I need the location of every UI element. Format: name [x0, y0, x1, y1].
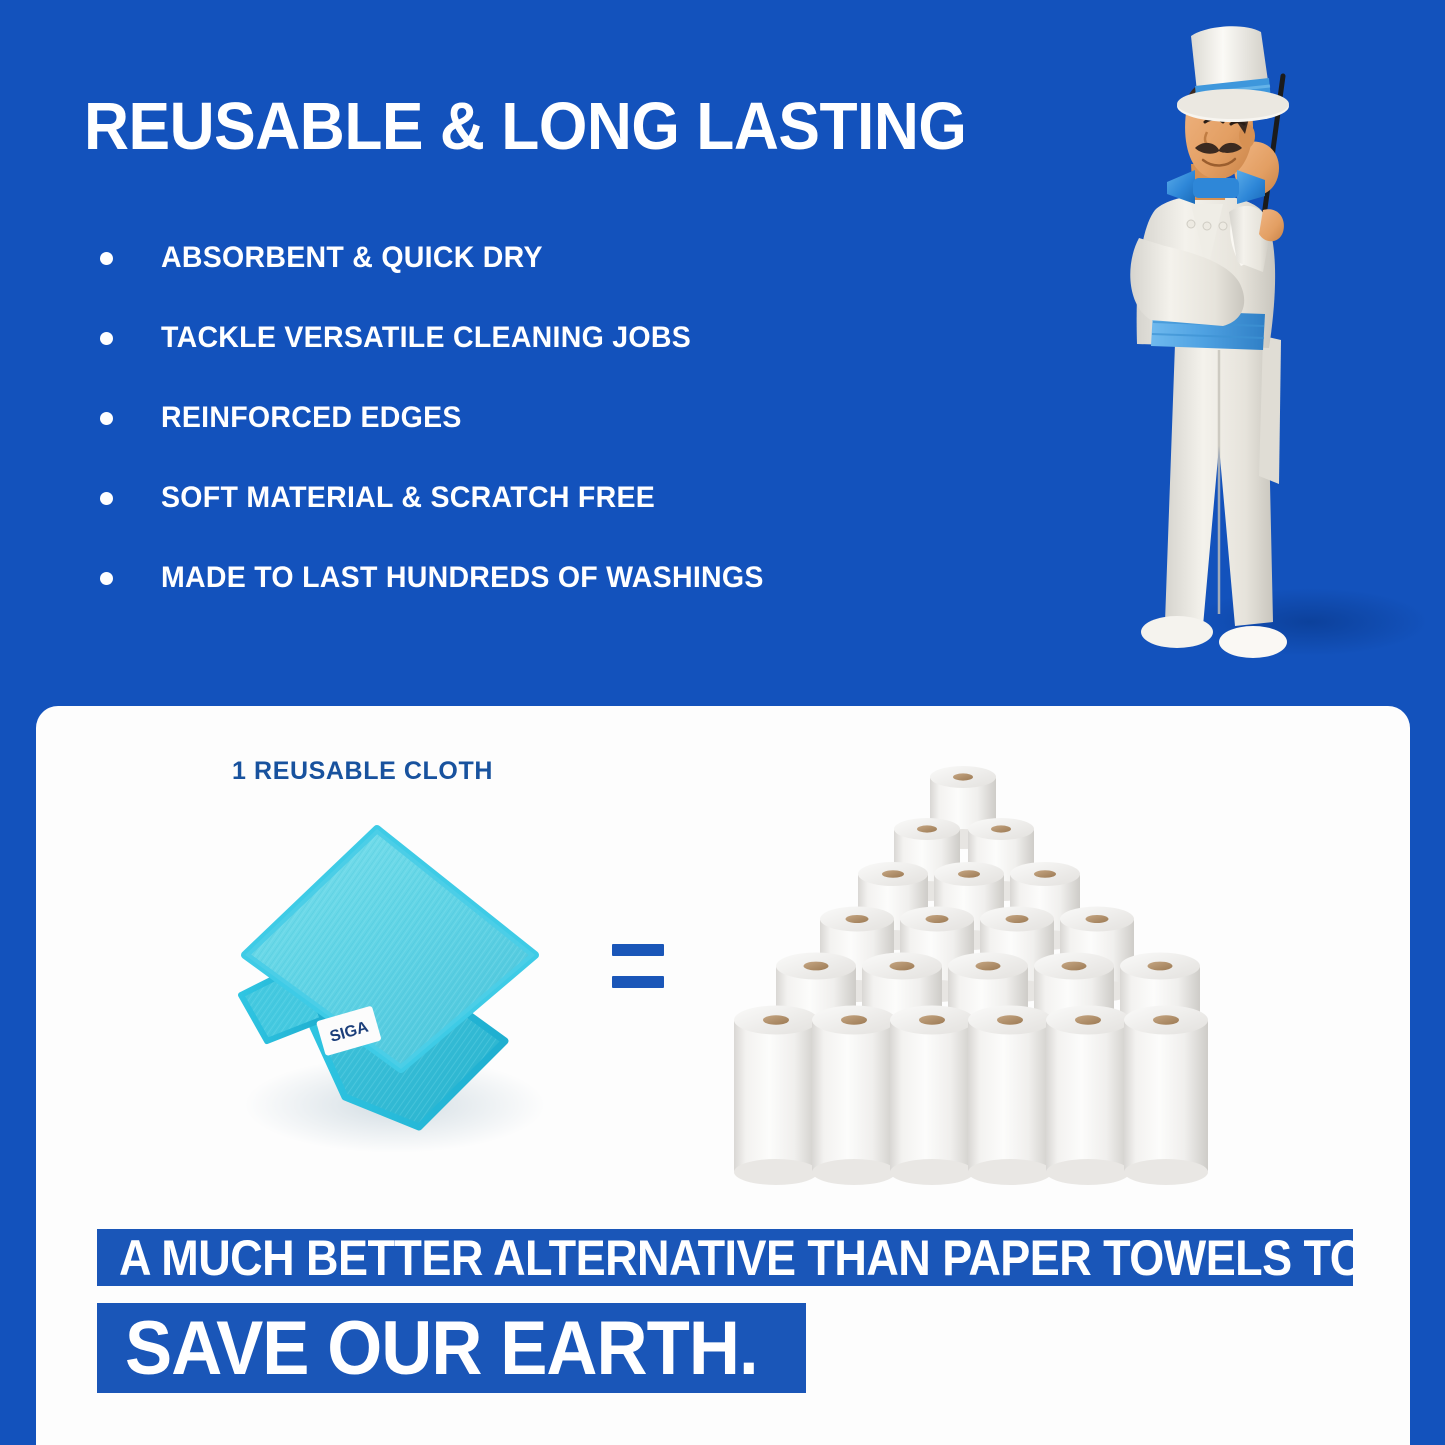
list-item: SOFT MATERIAL & SCRATCH FREE: [84, 458, 984, 538]
feature-list: ABSORBENT & QUICK DRY TACKLE VERSATILE C…: [84, 218, 984, 618]
feature-label: MADE TO LAST HUNDREDS OF WASHINGS: [161, 561, 764, 595]
tagline-banner-line1: A MUCH BETTER ALTERNATIVE THAN PAPER TOW…: [97, 1229, 1353, 1286]
bullet-dot-icon: [100, 492, 113, 505]
bullet-dot-icon: [100, 412, 113, 425]
tagline-banner-line2: SAVE OUR EARTH.: [97, 1303, 806, 1393]
page-title: REUSABLE & LONG LASTING: [84, 92, 1061, 162]
feature-label: TACKLE VERSATILE CLEANING JOBS: [161, 321, 691, 355]
bullet-dot-icon: [100, 252, 113, 265]
feature-label: REINFORCED EDGES: [161, 401, 462, 435]
list-item: TACKLE VERSATILE CLEANING JOBS: [84, 298, 984, 378]
list-item: REINFORCED EDGES: [84, 378, 984, 458]
microfiber-cloth-icon: SIGA: [205, 805, 575, 1175]
tagline-line2-text: SAVE OUR EARTH.: [125, 1305, 758, 1392]
product-infographic: REUSABLE & LONG LASTING ABSORBENT & QUIC…: [0, 0, 1445, 1445]
feature-label: SOFT MATERIAL & SCRATCH FREE: [161, 481, 655, 515]
list-item: ABSORBENT & QUICK DRY: [84, 218, 984, 298]
bullet-dot-icon: [100, 572, 113, 585]
tagline-line1-text: A MUCH BETTER ALTERNATIVE THAN PAPER TOW…: [119, 1229, 1353, 1286]
cloth-count-label: 1 REUSABLE CLOTH: [232, 757, 493, 786]
bullet-dot-icon: [100, 332, 113, 345]
paper-towel-roll-pyramid-icon: [718, 758, 1208, 1190]
equals-sign-icon: [612, 944, 664, 988]
list-item: MADE TO LAST HUNDREDS OF WASHINGS: [84, 538, 984, 618]
tuxedo-gentleman-mascot-icon: [1095, 14, 1425, 674]
feature-label: ABSORBENT & QUICK DRY: [161, 241, 543, 275]
